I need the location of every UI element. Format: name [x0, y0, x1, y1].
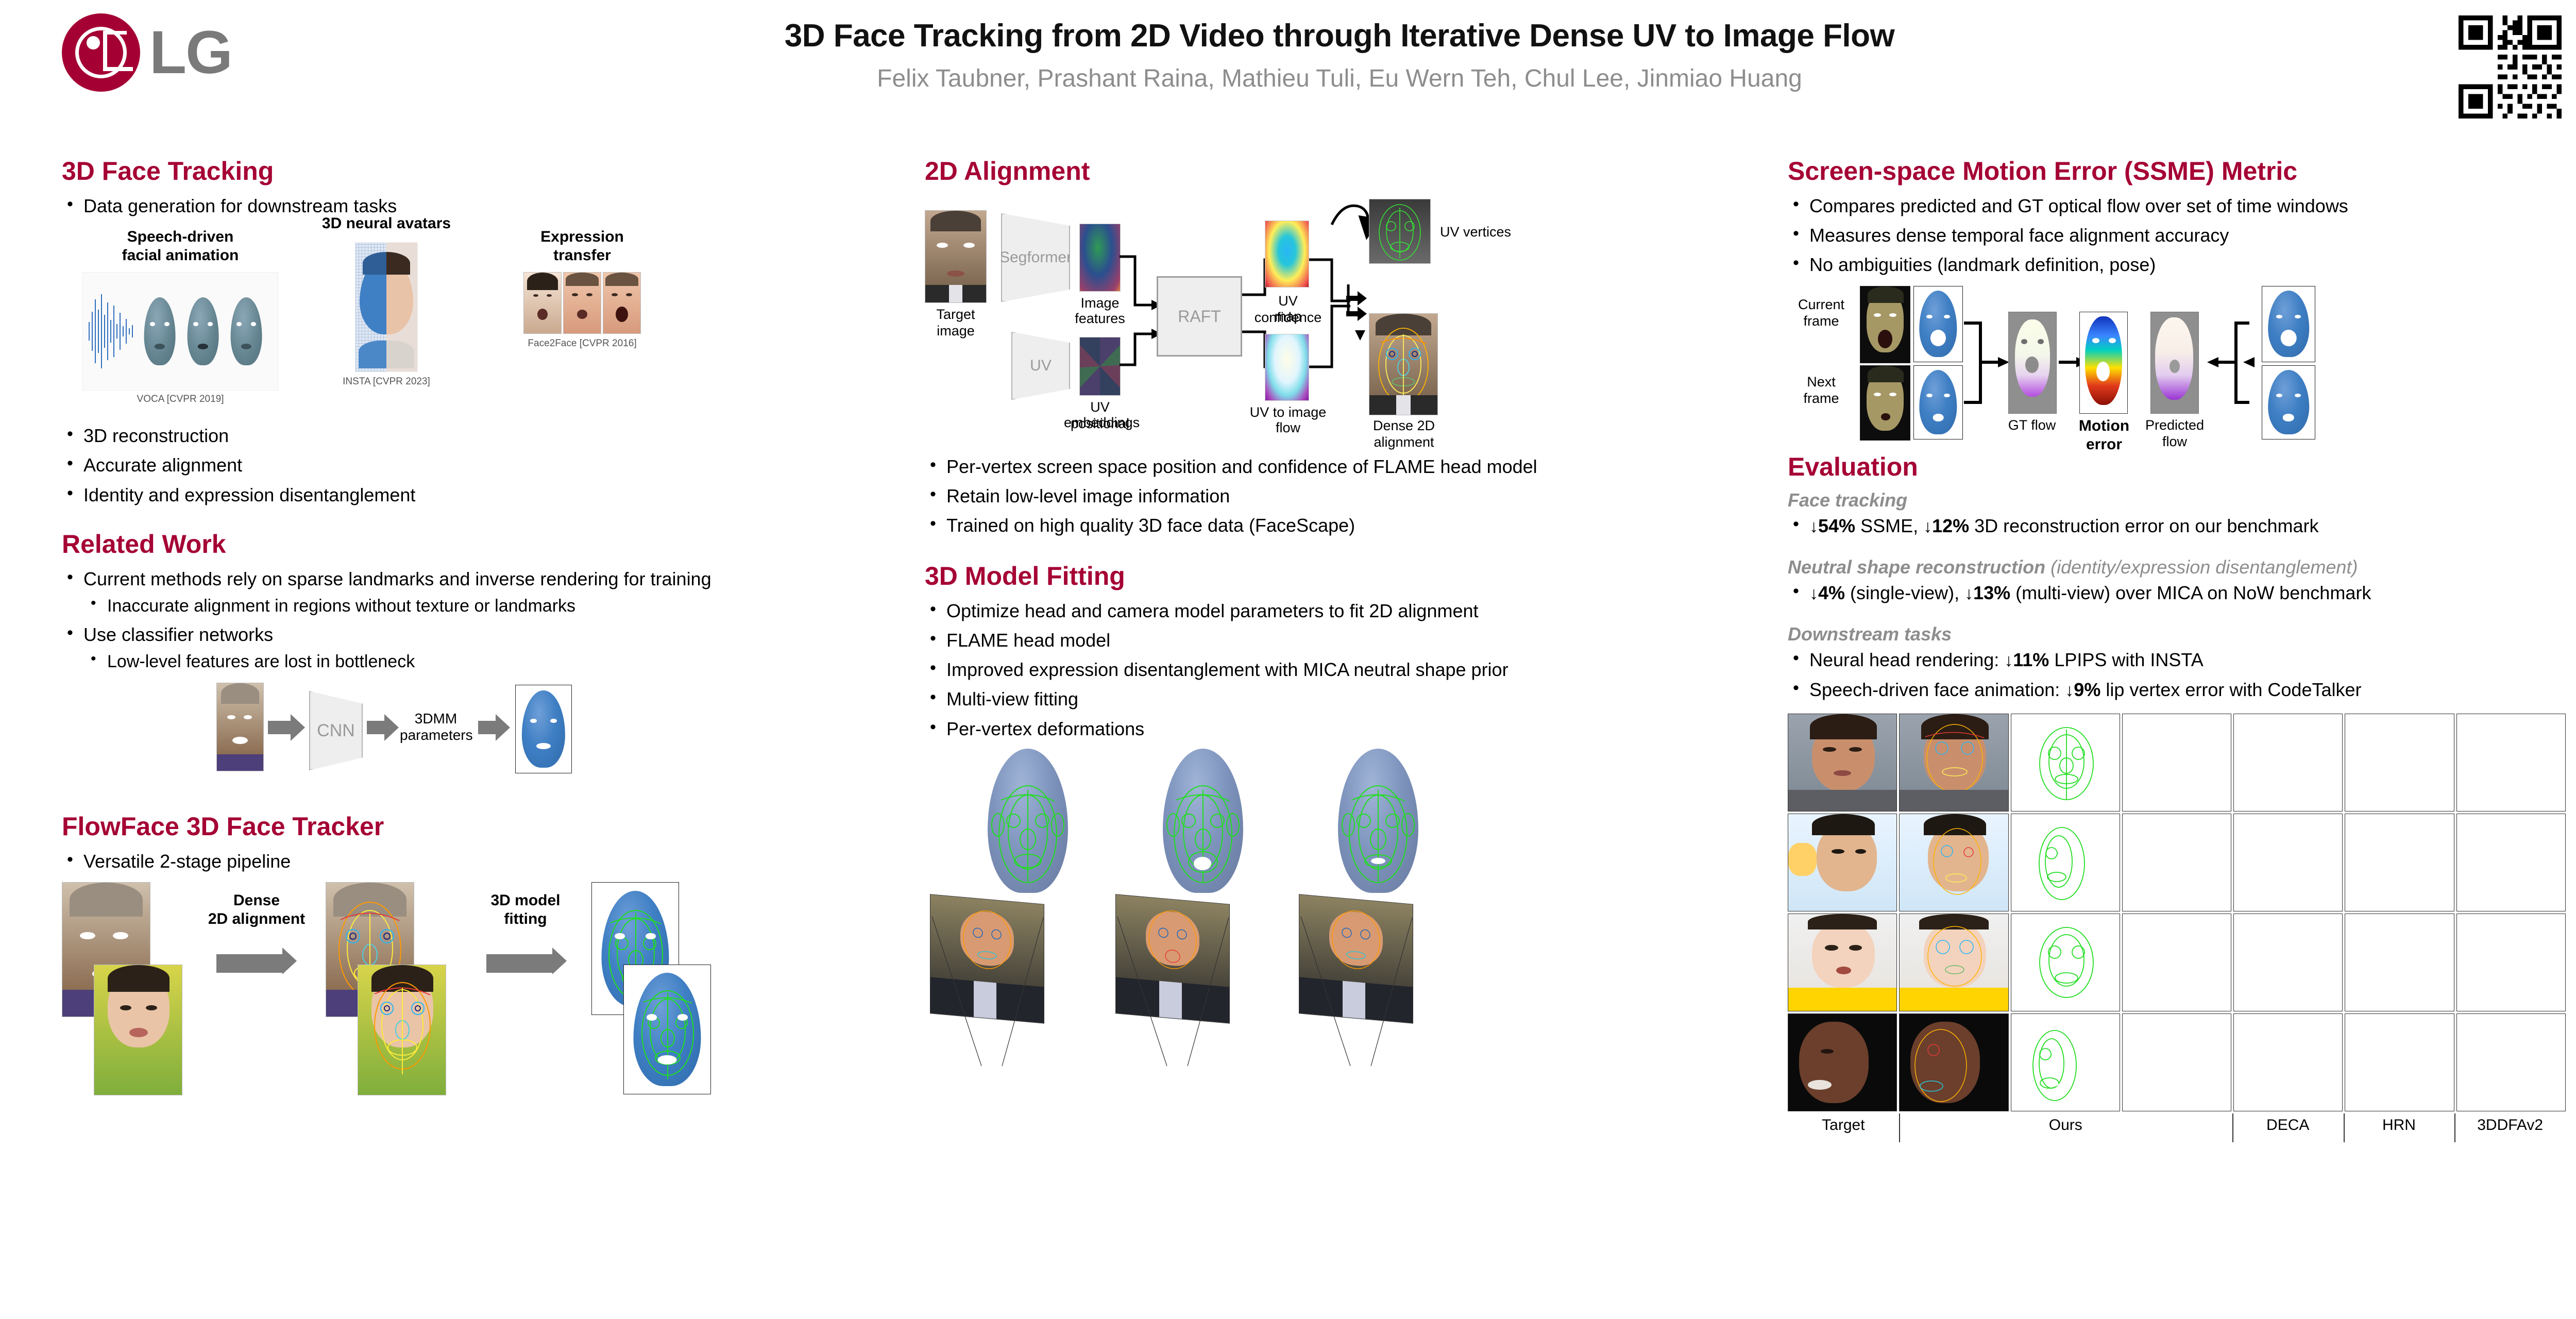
mesh-wireframe	[1157, 747, 1249, 901]
mesh-wireframe	[2011, 1014, 2120, 1111]
raft-block: RAFT	[1157, 276, 1242, 357]
frame-mesh-next	[1913, 365, 1963, 439]
threedmm-label: 3DMM parameters	[400, 711, 472, 743]
poster-header: LG 3D Face Tracking from 2D Video throug…	[0, 0, 2576, 155]
dense-alignment-overlay	[358, 965, 446, 1095]
raft-label: RAFT	[1178, 307, 1221, 326]
face2face-row	[495, 272, 670, 334]
dense-alignment-label: Dense 2D alignment	[1347, 417, 1461, 451]
uv-confidence-map-thumb	[1265, 221, 1309, 288]
arrow-icon	[478, 721, 497, 734]
result-deca[interactable]	[2233, 1013, 2343, 1111]
bullet-list-model-fitting: Optimize head and camera model parameter…	[925, 599, 1728, 741]
uv-flow-label-1: UV to image	[1249, 404, 1327, 420]
pipeline-mesh-c2	[623, 965, 711, 1094]
result-target[interactable]	[1788, 1013, 1897, 1111]
result-hrn[interactable]	[2345, 814, 2454, 911]
list-item: ↓4% (single-view), ↓13% (multi-view) ove…	[1788, 581, 2576, 606]
cnn-figure: CNN 3DMM parameters	[216, 683, 886, 786]
gallery-item-avatars: 3D neural avatars INSTA [CVPR 2023]	[309, 214, 464, 387]
metric-value: 13%	[1973, 582, 2010, 603]
fitted-mesh	[515, 685, 572, 773]
list-item: Neural head rendering: ↓11% LPIPS with I…	[1788, 648, 2576, 673]
gallery-title: 3D neural avatars	[309, 214, 464, 233]
audio-waveform-icon	[83, 290, 140, 373]
current-frame-label: Current frame	[1788, 296, 1855, 330]
poster-root: LG 3D Face Tracking from 2D Video throug…	[0, 0, 2576, 1319]
uv-flow-label-2: flow	[1249, 419, 1327, 436]
multiview-fitting-figure	[925, 747, 1728, 1066]
result-ours-overlay[interactable]	[1899, 814, 2008, 911]
result-target[interactable]	[1788, 714, 1897, 811]
list-item: Data generation for downstream tasks	[62, 194, 886, 218]
voca-head	[226, 293, 266, 370]
result-ours-mesh[interactable]	[2122, 714, 2231, 811]
title-block: 3D Face Tracking from 2D Video through I…	[546, 18, 2133, 93]
page-title: 3D Face Tracking from 2D Video through I…	[546, 18, 2133, 54]
gallery-caption: INSTA [CVPR 2023]	[309, 376, 464, 387]
arrow-icon	[216, 954, 283, 973]
results-grid-rows	[1788, 714, 2566, 1111]
down-arrow-icon: ↓	[1809, 517, 1818, 536]
bullet-list-face-tracking-eval: ↓54% SSME, ↓12% 3D reconstruction error …	[1788, 514, 2576, 539]
sub-bullet-list: Low-level features are lost in bottlenec…	[83, 650, 886, 673]
gallery-title-2: transfer	[495, 246, 670, 265]
result-target[interactable]	[1788, 814, 1897, 911]
gallery-title-2: facial animation	[82, 246, 278, 265]
metric-text: SSME,	[1855, 515, 1923, 536]
frame-photo-current	[1860, 286, 1910, 363]
cnn-block: CNN	[309, 691, 363, 770]
bullet-list-flowface: Versatile 2-stage pipeline	[62, 849, 886, 874]
list-item: Inaccurate alignment in regions without …	[83, 595, 886, 618]
alignment-overlay	[1900, 814, 2008, 911]
eval-subheading-neutral-shape: Neutral shape reconstruction (identity/e…	[1788, 556, 2576, 578]
metric-value: 9%	[2074, 679, 2100, 700]
list-item: 3D reconstruction	[62, 424, 886, 448]
metric-text: (single-view),	[1845, 582, 1964, 603]
uv-vertices-thumb	[1369, 199, 1431, 264]
mv-mesh	[981, 747, 1074, 901]
metric-text: (multi-view) over MICA on NoW benchmark	[2010, 582, 2371, 603]
metric-value: 4%	[1818, 582, 1845, 603]
result-3ddfav2[interactable]	[2456, 914, 2566, 1011]
section-title-ssme: Screen-space Motion Error (SSME) Metric	[1788, 157, 2576, 185]
list-item: Accurate alignment	[62, 453, 886, 478]
ssme-diagram: Current frame Next frame	[1788, 285, 2576, 439]
down-arrow-icon: ↓	[1964, 584, 1973, 603]
result-ours-overlay[interactable]	[1899, 714, 2008, 811]
result-hrn[interactable]	[2345, 714, 2454, 811]
arrow-icon	[268, 721, 292, 734]
input-photo	[216, 683, 264, 771]
bullet-list-neutral-shape-eval: ↓4% (single-view), ↓13% (multi-view) ove…	[1788, 581, 2576, 606]
result-ours-mesh[interactable]	[2122, 814, 2231, 911]
section-title-flowface: FlowFace 3D Face Tracker	[62, 813, 886, 841]
result-deca[interactable]	[2233, 814, 2343, 911]
alignment-overlay	[1900, 1014, 2008, 1111]
list-item: Multi-view fitting	[925, 687, 1728, 712]
uv-to-image-flow-thumb	[1265, 334, 1309, 401]
metric-text: 3D reconstruction error on our benchmark	[1969, 515, 2318, 536]
eval-subheading-text: Face tracking	[1788, 489, 1907, 511]
qr-code-icon[interactable]	[2459, 15, 2562, 119]
result-deca[interactable]	[2233, 714, 2343, 811]
gt-flow-thumb	[2008, 312, 2057, 414]
metric-text: lip vertex error with CodeTalker	[2100, 679, 2361, 700]
sub-bullet-list: Inaccurate alignment in regions without …	[83, 595, 886, 618]
results-grid: Target Ours DECA HRN 3DDFAv2	[1788, 714, 2566, 1134]
bullet-list-face-tracking-after: 3D reconstruction Accurate alignment Ide…	[62, 424, 886, 508]
gallery-item-speech: Speech-driven facial animation	[82, 228, 278, 405]
mv-mesh	[1157, 747, 1249, 901]
mesh-wireframe	[2011, 914, 2120, 1011]
face-thumb	[603, 272, 641, 334]
list-item: Retain low-level image information	[925, 484, 1728, 509]
down-arrow-icon: ↓	[2065, 681, 2074, 700]
result-ours-mesh[interactable]	[2122, 914, 2231, 1011]
result-hrn[interactable]	[2345, 1013, 2454, 1111]
lg-logo: LG	[62, 11, 278, 94]
dense-alignment-thumb	[1369, 313, 1438, 415]
uv-vertices-label: UV vertices	[1440, 224, 1548, 240]
eval-subheading-face-tracking: Face tracking	[1788, 489, 2576, 511]
mesh-wireframe	[981, 747, 1074, 901]
column-right: Screen-space Motion Error (SSME) Metric …	[1788, 157, 2576, 1134]
mesh-wireframe	[624, 965, 711, 1094]
mesh-wireframe	[2011, 714, 2120, 811]
result-3ddfav2[interactable]	[2456, 814, 2566, 911]
uv-vertices-wire	[1369, 199, 1430, 263]
gallery-title: Speech-driven	[82, 228, 278, 246]
voca-head	[140, 293, 180, 370]
result-ours-overlay[interactable]	[1899, 1013, 2008, 1111]
list-item: Low-level features are lost in bottlenec…	[83, 650, 886, 673]
eval-subheading-text: Neutral shape reconstruction	[1788, 556, 2045, 578]
bullet-list-downstream-eval: Neural head rendering: ↓11% LPIPS with I…	[1788, 648, 2576, 702]
bullet-list-face-tracking: Data generation for downstream tasks	[62, 194, 886, 218]
section-title-evaluation: Evaluation	[1788, 453, 2576, 481]
arrow-icon	[367, 721, 385, 734]
gallery-caption: Face2Face [CVPR 2016]	[495, 338, 670, 349]
legend-hrn: HRN	[2344, 1117, 2455, 1134]
pred-mesh-next	[2262, 365, 2315, 439]
metric-value: 12%	[1932, 515, 1969, 536]
predicted-flow-label: Predicted flow	[2134, 417, 2215, 450]
metric-text: Neural head rendering:	[1809, 649, 2004, 670]
bullet-list-2d-alignment: Per-vertex screen space position and con…	[925, 454, 1728, 538]
gallery-caption: VOCA [CVPR 2019]	[82, 394, 278, 405]
result-ours-mesh-wire[interactable]	[2011, 814, 2120, 911]
list-item: No ambiguities (landmark definition, pos…	[1788, 252, 2576, 277]
frame-mesh-current	[1913, 286, 1963, 362]
gallery-title: Expression	[495, 228, 670, 246]
result-target[interactable]	[1788, 914, 1897, 1011]
list-item: ↓54% SSME, ↓12% 3D reconstruction error …	[1788, 514, 2576, 539]
eval-subheading-note: (identity/expression disentanglement)	[2045, 556, 2358, 578]
flowface-pipeline: Dense 2D alignment	[62, 882, 886, 1098]
pipeline-photo-b2	[358, 965, 446, 1095]
diagram-wires	[925, 194, 1728, 436]
list-item: Optimize head and camera model parameter…	[925, 599, 1728, 623]
result-ours-mesh-wire[interactable]	[2011, 914, 2120, 1011]
gt-flow-label: GT flow	[1993, 417, 2071, 433]
result-deca[interactable]	[2233, 914, 2343, 1011]
section-title-related-work: Related Work	[62, 530, 886, 559]
alignment-diagram: Target image Segformer Image features UV…	[925, 194, 1728, 420]
next-frame-label: Next frame	[1788, 374, 1855, 407]
voca-head-row	[140, 293, 266, 370]
metric-text: Speech-driven face animation:	[1809, 679, 2065, 700]
pipeline-photo-a2	[94, 965, 182, 1095]
motion-error-label: Motion error	[2066, 417, 2142, 454]
predicted-flow-thumb	[2150, 312, 2199, 414]
camera-frustum-lines	[925, 896, 1543, 1066]
legend-3ddfav2: 3DDFAv2	[2454, 1117, 2566, 1134]
mesh-wireframe	[1332, 747, 1425, 901]
face-thumb	[523, 272, 562, 334]
results-grid-legend: Target Ours DECA HRN 3DDFAv2	[1788, 1117, 2566, 1134]
result-ours-mesh-wire[interactable]	[2011, 1013, 2120, 1111]
legend-deca: DECA	[2232, 1117, 2344, 1134]
mesh-wireframe	[2011, 814, 2120, 911]
face-thumb	[563, 272, 601, 334]
pred-mesh-current	[2262, 286, 2315, 362]
metric-value: 54%	[1818, 515, 1855, 536]
list-item-text: Use classifier networks	[83, 624, 273, 645]
list-item: Versatile 2-stage pipeline	[62, 849, 886, 874]
downstream-gallery: Speech-driven facial animation	[62, 228, 886, 408]
list-item: Improved expression disentanglement with…	[925, 657, 1728, 682]
mv-mesh	[1332, 747, 1425, 901]
insta-avatar-image	[355, 242, 418, 372]
down-arrow-icon: ↓	[1923, 517, 1932, 536]
result-3ddfav2[interactable]	[2456, 714, 2566, 811]
eval-subheading-text: Downstream tasks	[1788, 623, 1952, 645]
frame-photo-next	[1860, 365, 1910, 441]
pipeline-step1-label: Dense 2D alignment	[205, 891, 308, 928]
list-item: Per-vertex deformations	[925, 717, 1728, 741]
result-hrn[interactable]	[2345, 914, 2454, 1011]
motion-error-thumb	[2079, 312, 2128, 414]
lg-logo-mark	[62, 13, 140, 92]
section-title-2d-alignment: 2D Alignment	[925, 157, 1728, 185]
legend-target: Target	[1788, 1117, 1899, 1134]
list-item: Measures dense temporal face alignment a…	[1788, 223, 2576, 248]
bullet-list-ssme: Compares predicted and GT optical flow o…	[1788, 194, 2576, 278]
metric-value: 11%	[2013, 649, 2049, 670]
section-title-3d-face-tracking: 3D Face Tracking	[62, 157, 886, 185]
uv-conf-label-2: map	[1249, 308, 1327, 325]
column-left: 3D Face Tracking Data generation for dow…	[62, 157, 886, 1098]
result-ours-mesh[interactable]	[2122, 1013, 2231, 1111]
section-title-3d-model-fitting: 3D Model Fitting	[925, 562, 1728, 590]
list-item-text: Current methods rely on sparse landmarks…	[83, 568, 711, 589]
down-arrow-icon: ↓	[1809, 584, 1818, 603]
result-ours-mesh-wire[interactable]	[2011, 714, 2120, 811]
list-item: Identity and expression disentanglement	[62, 483, 886, 508]
arrow-icon	[486, 954, 553, 973]
bullet-list-related-work: Current methods rely on sparse landmarks…	[62, 567, 886, 673]
list-item: Per-vertex screen space position and con…	[925, 454, 1728, 479]
author-list: Felix Taubner, Prashant Raina, Mathieu T…	[546, 64, 2133, 93]
list-item: Current methods rely on sparse landmarks…	[62, 567, 886, 618]
column-middle: 2D Alignment Target image Segformer Imag…	[925, 157, 1728, 1066]
list-item: Trained on high quality 3D face data (Fa…	[925, 513, 1728, 538]
voca-head	[183, 293, 223, 370]
lg-logo-text: LG	[149, 22, 232, 83]
list-item: Use classifier networks Low-level featur…	[62, 622, 886, 673]
cnn-block-label: CNN	[317, 721, 355, 741]
down-arrow-icon: ↓	[2004, 651, 2013, 670]
list-item: FLAME head model	[925, 628, 1728, 653]
result-ours-overlay[interactable]	[1899, 914, 2008, 1011]
metric-text: LPIPS with INSTA	[2049, 649, 2203, 670]
list-item: Compares predicted and GT optical flow o…	[1788, 194, 2576, 218]
gallery-item-expression: Expression transfer	[495, 228, 670, 349]
legend-ours: Ours	[1899, 1117, 2232, 1134]
result-3ddfav2[interactable]	[2456, 1013, 2566, 1111]
pipeline-step2-label: 3D model fitting	[474, 891, 577, 928]
eval-subheading-downstream: Downstream tasks	[1788, 623, 2576, 645]
list-item: Speech-driven face animation: ↓9% lip ve…	[1788, 678, 2576, 703]
